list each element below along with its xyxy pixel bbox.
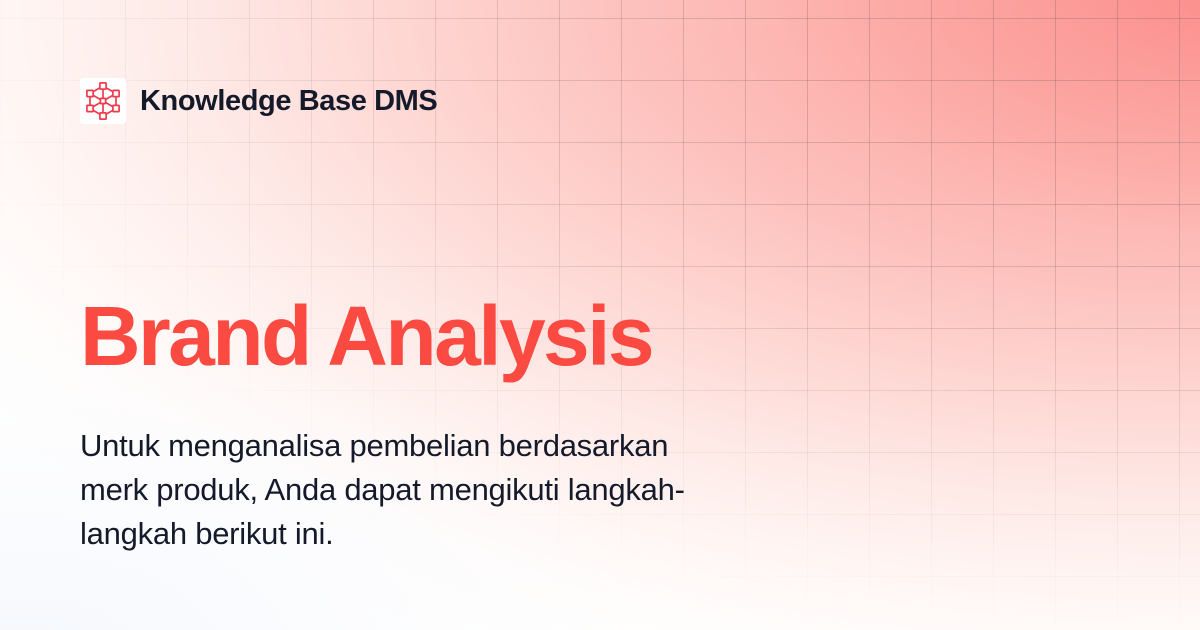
page-title: Brand Analysis — [80, 294, 652, 378]
brand-header[interactable]: Knowledge Base DMS — [80, 78, 437, 124]
page-description: Untuk menganalisa pembelian berdasarkan … — [80, 424, 840, 556]
description-line: Untuk menganalisa pembelian berdasarkan — [80, 424, 840, 468]
share-card: Knowledge Base DMS Brand Analysis Untuk … — [0, 0, 1200, 630]
brand-name: Knowledge Base DMS — [140, 87, 437, 116]
cube-network-icon — [80, 78, 126, 124]
description-line: langkah berikut ini. — [80, 512, 840, 556]
card-content: Knowledge Base DMS Brand Analysis Untuk … — [0, 0, 1200, 630]
description-line: merk produk, Anda dapat mengikuti langka… — [80, 468, 840, 512]
